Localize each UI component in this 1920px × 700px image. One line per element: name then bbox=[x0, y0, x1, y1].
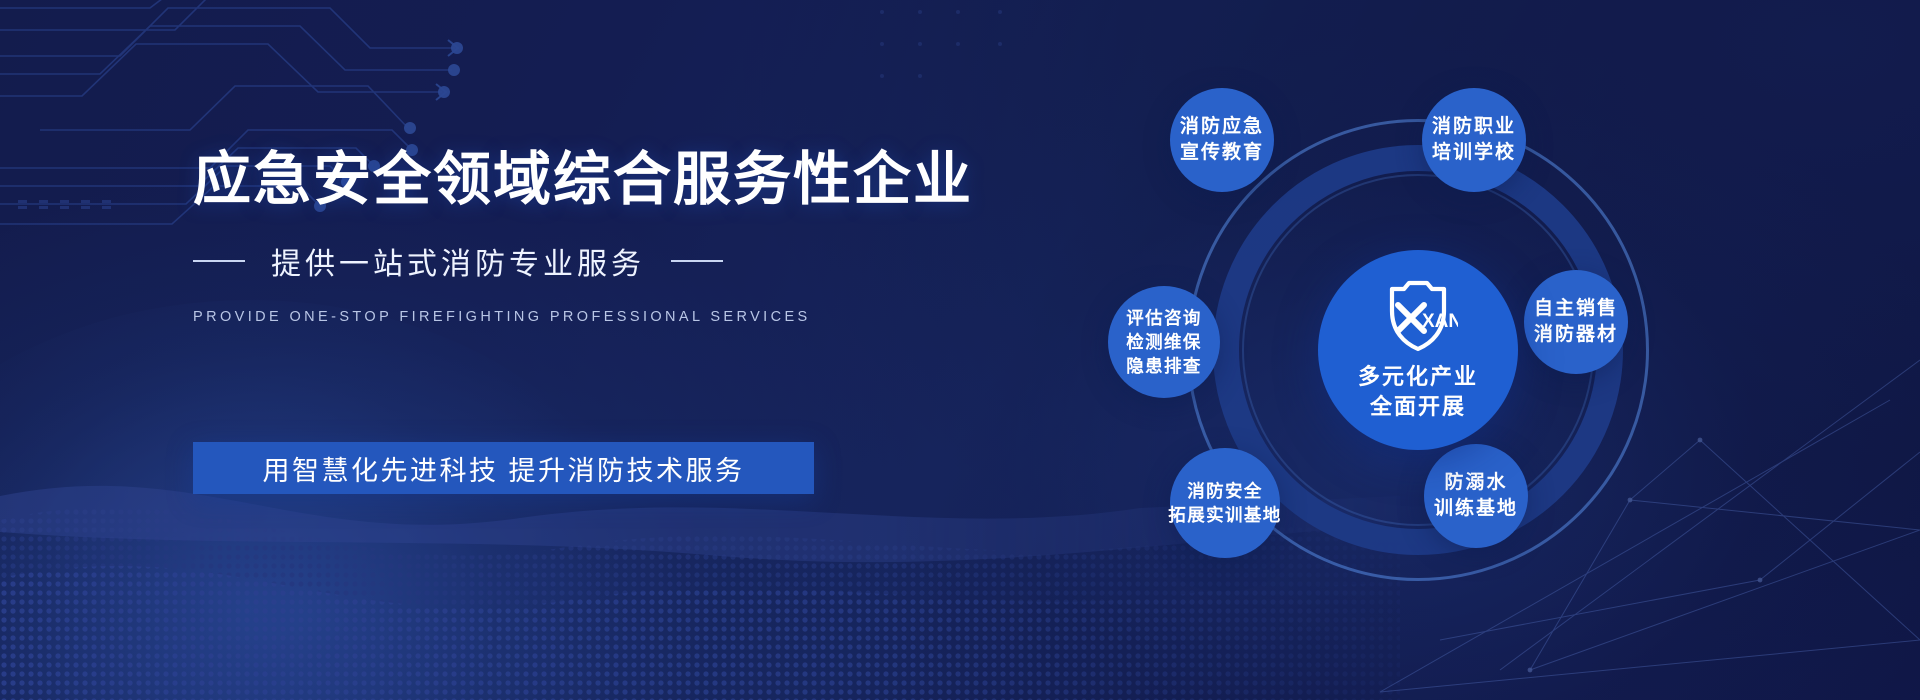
node-line-1: 消防职业 bbox=[1432, 114, 1516, 140]
center-line-2: 全面开展 bbox=[1358, 392, 1478, 421]
dot-grid-decoration bbox=[18, 198, 128, 214]
node-bottom-right[interactable]: 防溺水 训练基地 bbox=[1424, 444, 1528, 548]
hero-copy-block: 应急安全领域综合服务性企业 提供一站式消防专业服务 PROVIDE ONE-ST… bbox=[193, 150, 913, 325]
bottom-left-glow bbox=[0, 300, 660, 700]
logo-text: XAN bbox=[1422, 311, 1458, 332]
cta-label: 用智慧化先进科技 提升消防技术服务 bbox=[262, 449, 744, 488]
subtitle-text: 提供一站式消防专业服务 bbox=[271, 239, 645, 283]
node-line-2: 检测维保 bbox=[1126, 330, 1202, 354]
node-top-right[interactable]: 消防职业 培训学校 bbox=[1422, 88, 1526, 192]
english-subtitle: PROVIDE ONE-STOP FIREFIGHTING PROFESSION… bbox=[193, 309, 913, 325]
node-line-2: 培训学校 bbox=[1432, 140, 1516, 166]
node-line-1: 消防安全 bbox=[1187, 479, 1263, 503]
node-line-2: 训练基地 bbox=[1434, 496, 1518, 522]
node-line-1: 自主销售 bbox=[1534, 296, 1618, 322]
hero-banner: 应急安全领域综合服务性企业 提供一站式消防专业服务 PROVIDE ONE-ST… bbox=[0, 0, 1920, 700]
node-line-1: 消防应急 bbox=[1180, 114, 1264, 140]
services-circle-diagram: 消防应急 宣传教育 消防职业 培训学校 评估咨询 检测维保 隐患排查 自主销售 … bbox=[1148, 80, 1688, 620]
node-bottom-left[interactable]: 消防安全 拓展实训基地 bbox=[1170, 448, 1280, 558]
node-top-left[interactable]: 消防应急 宣传教育 bbox=[1170, 88, 1274, 192]
dash-right-decoration bbox=[671, 260, 723, 262]
node-line-1: 防溺水 bbox=[1444, 470, 1507, 496]
dash-left-decoration bbox=[193, 260, 245, 262]
node-line-3: 隐患排查 bbox=[1126, 354, 1202, 378]
node-center[interactable]: XAN 多元化产业 全面开展 bbox=[1318, 250, 1518, 450]
node-line-2: 消防器材 bbox=[1534, 322, 1618, 348]
center-label: 多元化产业 全面开展 bbox=[1358, 362, 1478, 420]
subtitle-row: 提供一站式消防专业服务 bbox=[193, 239, 913, 283]
page-title: 应急安全领域综合服务性企业 bbox=[193, 150, 913, 211]
node-line-1: 评估咨询 bbox=[1126, 306, 1202, 330]
node-line-2: 宣传教育 bbox=[1180, 140, 1264, 166]
node-line-2: 拓展实训基地 bbox=[1168, 503, 1281, 527]
node-left[interactable]: 评估咨询 检测维保 隐患排查 bbox=[1108, 286, 1220, 398]
cta-banner[interactable]: 用智慧化先进科技 提升消防技术服务 bbox=[193, 442, 814, 494]
center-line-1: 多元化产业 bbox=[1358, 362, 1478, 391]
shield-x-icon: XAN bbox=[1378, 279, 1458, 358]
node-right[interactable]: 自主销售 消防器材 bbox=[1524, 270, 1628, 374]
